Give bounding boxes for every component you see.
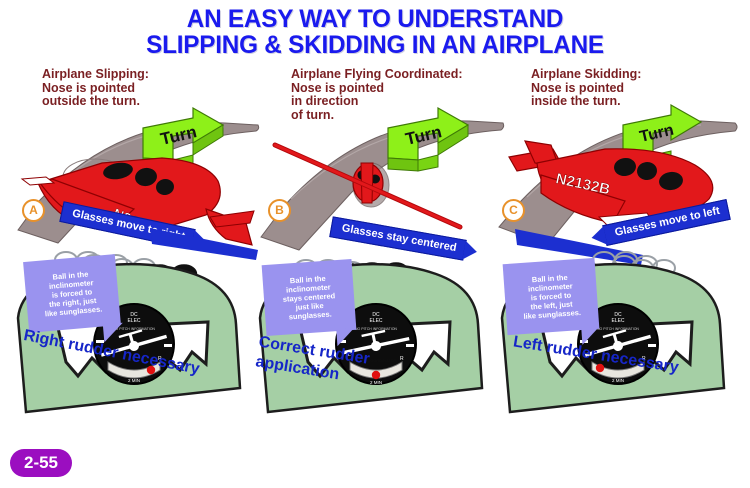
- svg-text:ELEC: ELEC: [369, 318, 382, 324]
- panel-c-callout-text: Ball in the inclinometer is forced to th…: [523, 273, 581, 321]
- panel-b-callout: Ball in the inclinometer stays centered …: [262, 259, 357, 336]
- title-line-1: AN EASY WAY TO UNDERSTAND: [11, 6, 739, 32]
- svg-text:2 MIN: 2 MIN: [612, 378, 624, 383]
- panel-a-heading: Airplane Slipping: Nose is pointed outsi…: [42, 68, 149, 109]
- page-title: AN EASY WAY TO UNDERSTAND SLIPPING & SKI…: [0, 6, 750, 58]
- panel-c-callout: Ball in the inclinometer is forced to th…: [503, 258, 600, 335]
- panel-b-callout-text: Ball in the inclinometer stays centered …: [282, 274, 335, 322]
- panel-letter-c: C: [502, 199, 525, 222]
- svg-text:ELEC: ELEC: [611, 318, 624, 324]
- callout-tail: [336, 328, 355, 346]
- callout-tail: [103, 323, 124, 343]
- panel-a-callout-text: Ball in the inclinometer is forced to th…: [45, 270, 103, 319]
- panel-a-callout: Ball in the inclinometer is forced to th…: [23, 254, 121, 333]
- callout-tail: [581, 327, 600, 345]
- panel-letter-a: A: [22, 199, 45, 222]
- page-number-badge: 2-55: [10, 449, 72, 477]
- svg-text:NO PITCH INFORMATION: NO PITCH INFORMATION: [355, 327, 397, 331]
- panel-c-heading: Airplane Skidding: Nose is pointed insid…: [531, 68, 641, 109]
- svg-text:ELEC: ELEC: [127, 318, 140, 324]
- diagram-canvas: AN EASY WAY TO UNDERSTAND SLIPPING & SKI…: [0, 0, 750, 488]
- svg-text:2 MIN: 2 MIN: [128, 378, 140, 383]
- title-line-2: SLIPPING & SKIDDING IN AN AIRPLANE: [11, 32, 739, 58]
- turn-sign-b: Turn: [388, 108, 468, 171]
- svg-text:NO PITCH INFORMATION: NO PITCH INFORMATION: [597, 327, 639, 331]
- panel-letter-b: B: [268, 199, 291, 222]
